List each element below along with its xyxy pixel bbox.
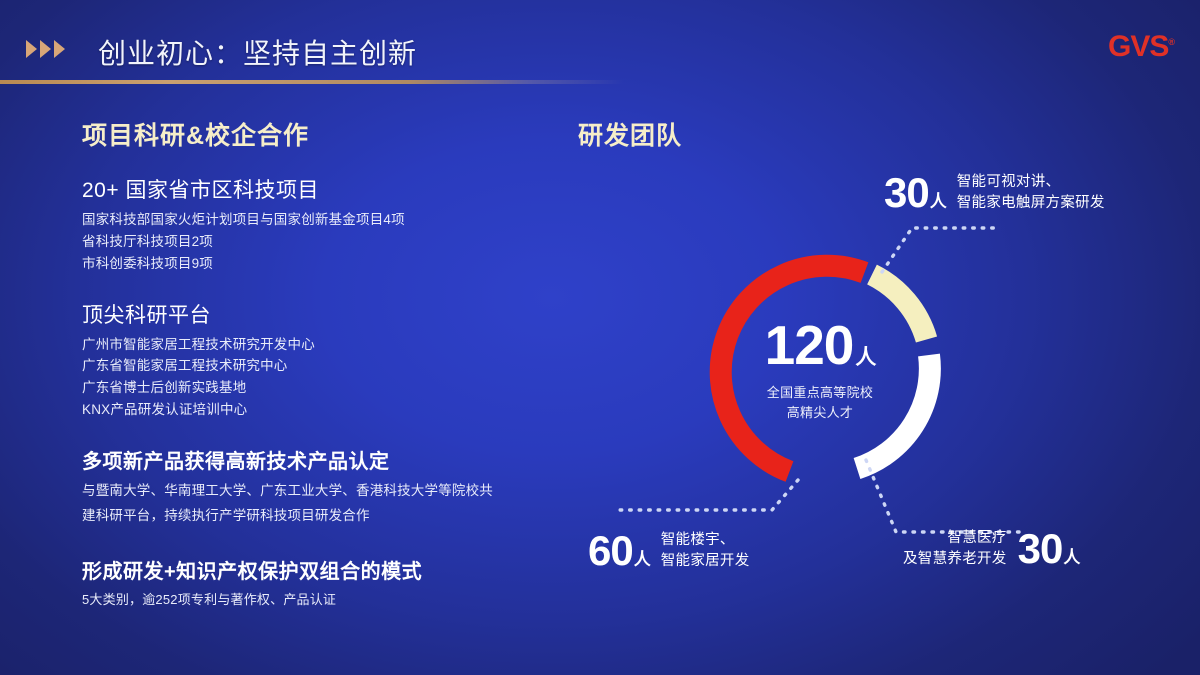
callout-text-line2: 及智慧养老开发 — [903, 549, 1007, 570]
callout-value: 60人 — [588, 530, 650, 572]
donut-segment-60 — [721, 266, 865, 472]
logo-trademark-mark: ® — [1168, 37, 1174, 47]
block-line: KNX产品研发认证培训中心 — [82, 399, 602, 421]
block-line: 省科技厅科技项目2项 — [82, 231, 602, 253]
project-block: 20+ 国家省市区科技项目 国家科技部国家火炬计划项目与国家创新基金项目4项 省… — [82, 174, 602, 275]
block-line: 建科研平台，持续执行产学研科技项目研发合作 — [82, 504, 602, 529]
block-line: 广州市智能家居工程技术研究开发中心 — [82, 334, 602, 356]
callout-value: 30人 — [884, 172, 946, 214]
block-line: 5大类别，逾252项专利与著作权、产品认证 — [82, 589, 602, 610]
block-title: 多项新产品获得高新技术产品认定 — [82, 445, 602, 474]
chevrons-right-icon — [26, 40, 65, 58]
callout-text-line1: 智能楼宇、 — [661, 530, 750, 551]
connector-line-bottom-right — [866, 460, 1020, 532]
block-line: 国家科技部国家火炬计划项目与国家创新基金项目4项 — [82, 209, 602, 231]
donut-segment-30-top — [872, 275, 927, 340]
callout-top-right: 30人 智能可视对讲、 智能家电触屏方案研发 — [884, 172, 1105, 214]
block-title: 20+ 国家省市区科技项目 — [82, 174, 602, 204]
connector-line-bottom-left — [618, 480, 798, 510]
callout-text-line2: 智能家电触屏方案研发 — [957, 193, 1105, 214]
project-block: 顶尖科研平台 广州市智能家居工程技术研究开发中心 广东省智能家居工程技术研究中心… — [82, 299, 602, 421]
block-title: 形成研发+知识产权保护双组合的模式 — [82, 555, 602, 584]
header-divider — [0, 80, 1200, 84]
left-column: 项目科研&校企合作 20+ 国家省市区科技项目 国家科技部国家火炬计划项目与国家… — [82, 116, 602, 632]
block-line: 广东省博士后创新实践基地 — [82, 377, 602, 399]
block-title: 顶尖科研平台 — [82, 299, 602, 329]
callout-text-line1: 智能可视对讲、 — [957, 172, 1105, 193]
project-block: 多项新产品获得高新技术产品认定 与暨南大学、华南理工大学、广东工业大学、香港科技… — [82, 445, 602, 529]
callout-unit: 人 — [634, 550, 650, 569]
callout-unit: 人 — [930, 192, 946, 211]
callout-value: 30人 — [1018, 528, 1080, 570]
gvs-logo: GVS® — [1108, 30, 1174, 64]
slide-root: 创业初心：坚持自主创新 GVS® 项目科研&校企合作 20+ 国家省市区科技项目… — [0, 0, 1200, 675]
callout-text-line2: 智能家居开发 — [661, 551, 750, 572]
right-column-heading: 研发团队 — [578, 116, 682, 152]
block-line: 市科创委科技项目9项 — [82, 253, 602, 275]
donut-segment-30-bottom — [857, 355, 930, 469]
callout-bottom-left: 60人 智能楼宇、 智能家居开发 — [588, 530, 750, 572]
callout-text: 智慧医疗 及智慧养老开发 — [903, 528, 1007, 570]
page-title: 创业初心：坚持自主创新 — [98, 32, 417, 72]
callout-unit: 人 — [1063, 548, 1079, 567]
connector-line-top — [882, 228, 1000, 272]
callout-bottom-right: 智慧医疗 及智慧养老开发 30人 — [903, 528, 1079, 570]
block-line: 广东省智能家居工程技术研究中心 — [82, 355, 602, 377]
project-block: 形成研发+知识产权保护双组合的模式 5大类别，逾252项专利与著作权、产品认证 — [82, 555, 602, 610]
logo-text: GVS — [1108, 30, 1168, 63]
left-column-heading: 项目科研&校企合作 — [82, 116, 602, 152]
callout-text: 智能可视对讲、 智能家电触屏方案研发 — [957, 172, 1105, 214]
callout-text: 智能楼宇、 智能家居开发 — [661, 530, 750, 572]
block-line: 与暨南大学、华南理工大学、广东工业大学、香港科技大学等院校共 — [82, 479, 602, 504]
callout-text-line1: 智慧医疗 — [903, 528, 1007, 549]
